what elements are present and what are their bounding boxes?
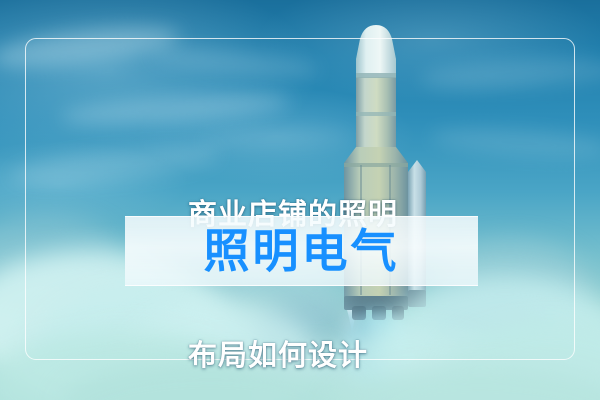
brand-band: 照明电气 xyxy=(125,216,478,286)
banner-image: 商业店铺的照明 布局如何设计 照明电气 xyxy=(0,0,600,400)
brand-name: 照明电气 xyxy=(204,228,400,274)
page-title-line-2: 布局如何设计 xyxy=(188,333,548,380)
